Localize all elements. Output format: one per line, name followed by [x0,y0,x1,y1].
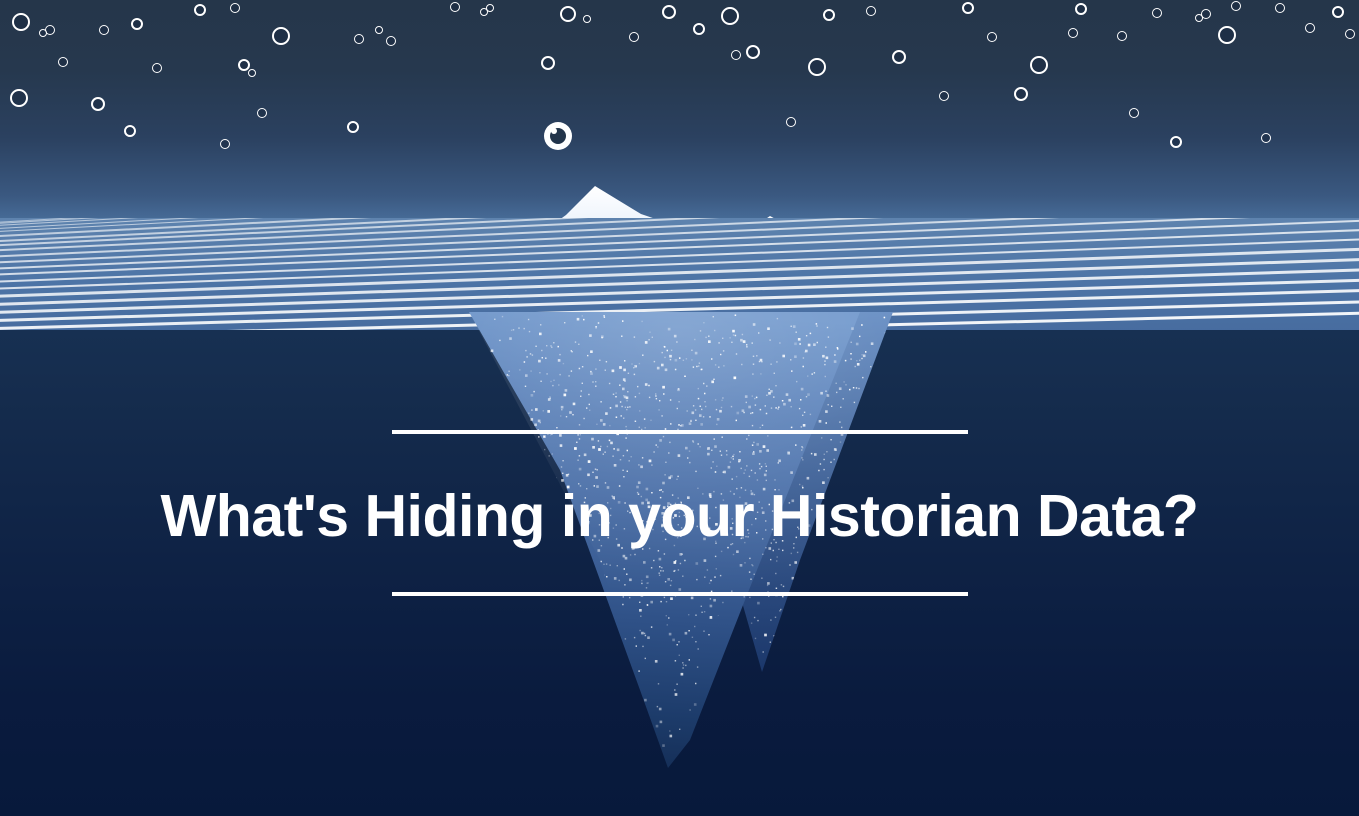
page-title: What's Hiding in your Historian Data? [0,486,1359,548]
hero-banner: What's Hiding in your Historian Data? [0,0,1359,816]
headline-rule-bottom [392,592,968,596]
iceberg-submerged-illustration [0,0,1359,816]
headline-rule-top [392,430,968,434]
headline-block: What's Hiding in your Historian Data? [0,430,1359,596]
